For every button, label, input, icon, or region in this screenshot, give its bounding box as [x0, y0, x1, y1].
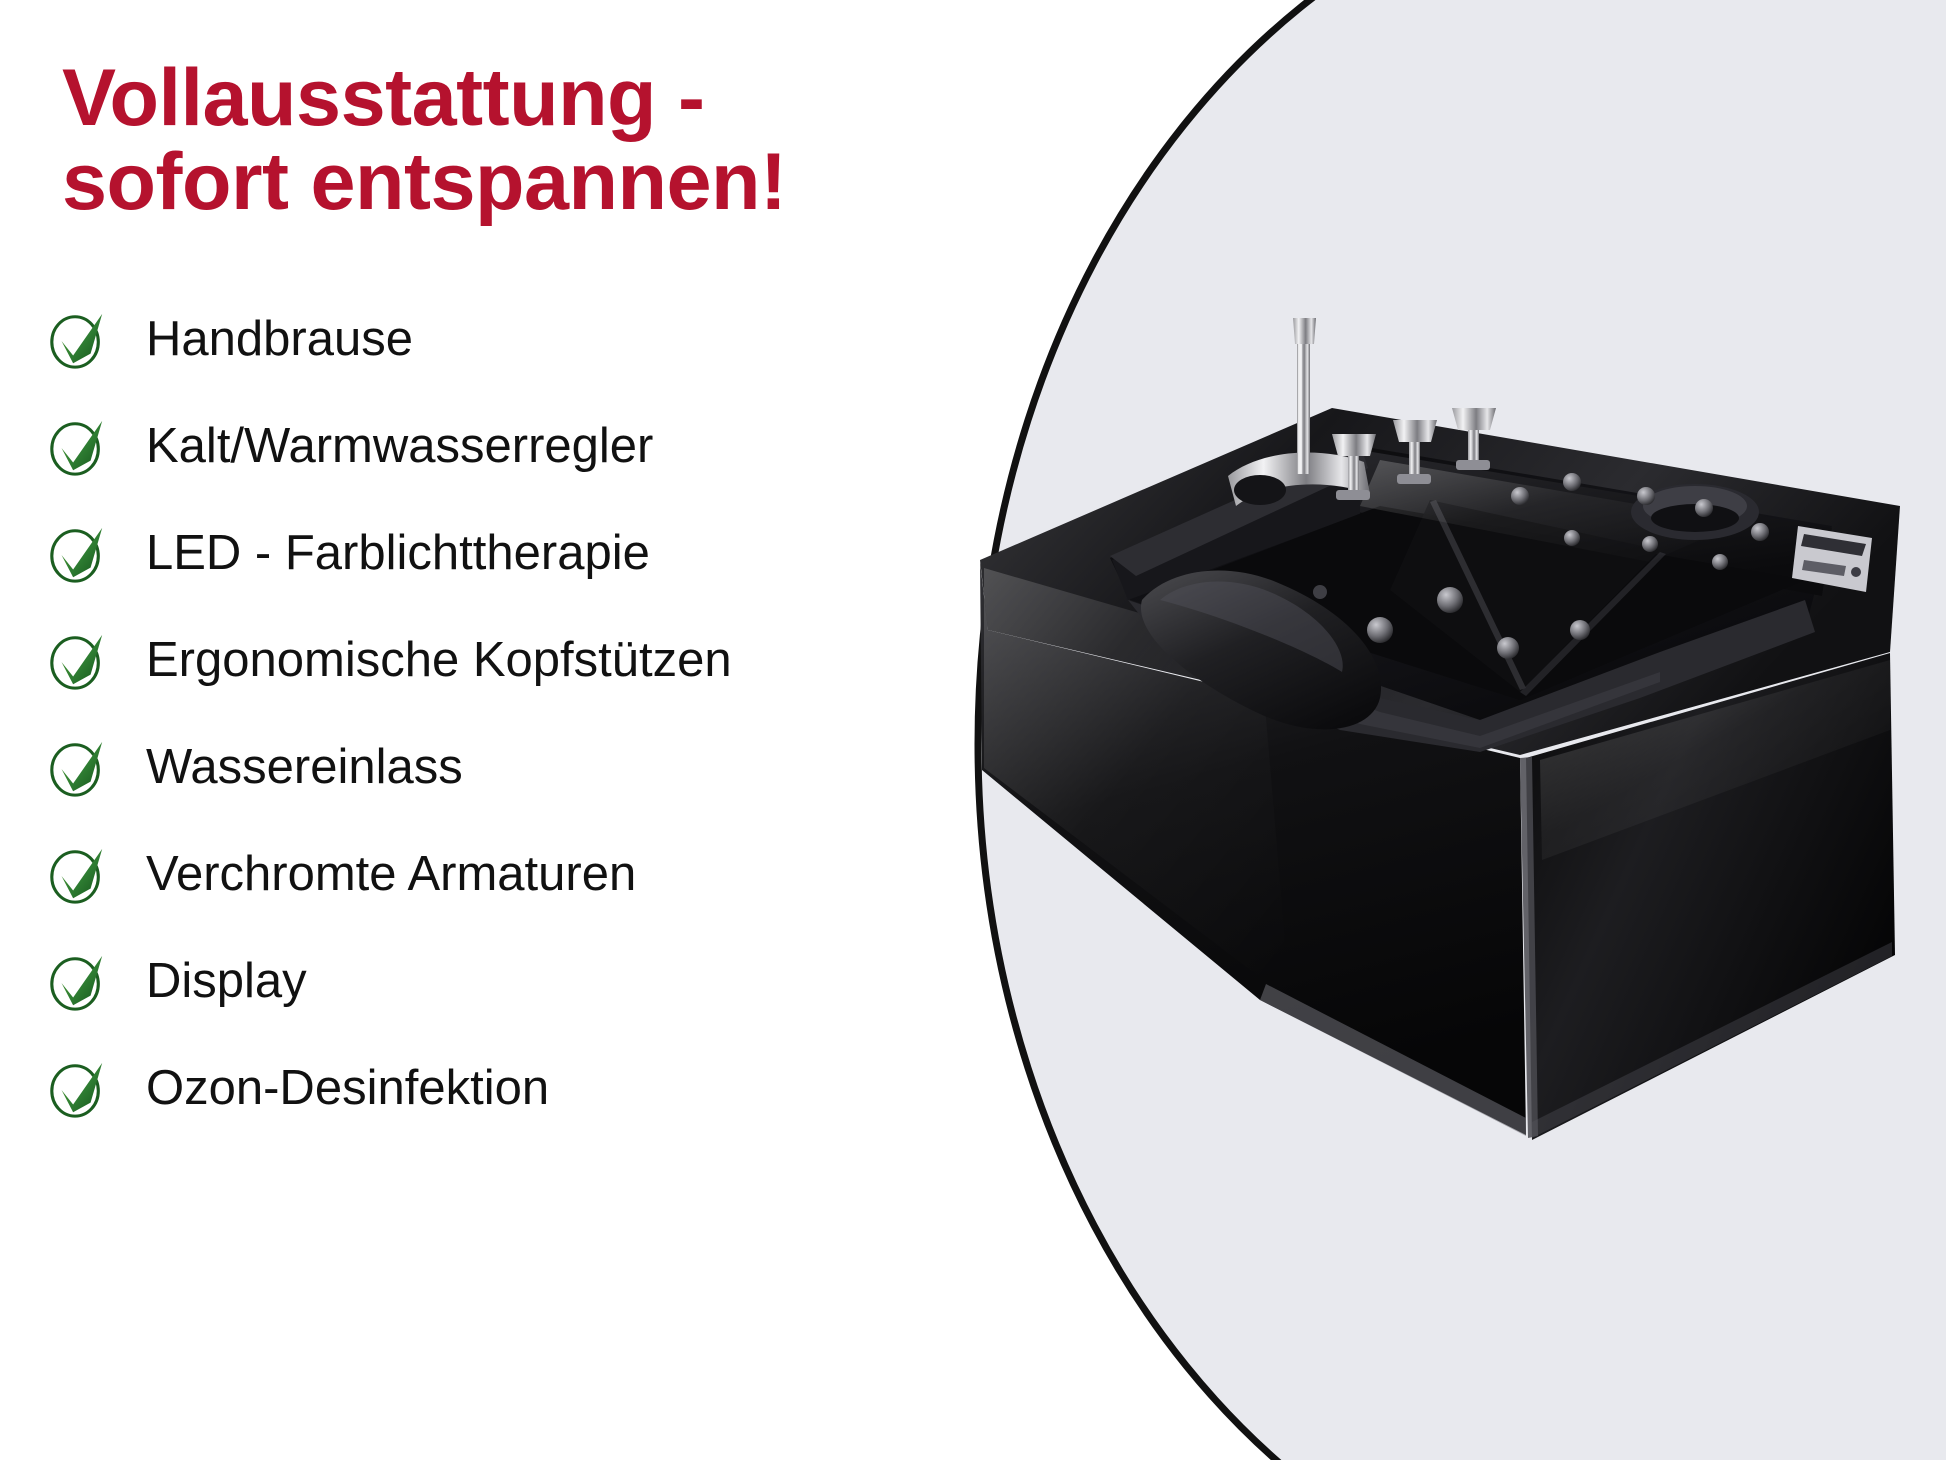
list-item-label: Handbrause: [146, 315, 413, 364]
list-item-label: Display: [146, 957, 307, 1006]
list-item-label: LED - Farblichttherapie: [146, 529, 650, 578]
marketing-slide: Vollausstattung - sofort entspannen!: [0, 0, 1946, 1460]
handheld-shower-icon: [1293, 318, 1316, 344]
list-item: Handbrause: [40, 286, 970, 393]
list-item-label: Kalt/Warmwasserregler: [146, 422, 653, 471]
list-item: LED - Farblichttherapie: [40, 500, 970, 607]
page-title: Vollausstattung - sofort entspannen!: [62, 56, 942, 224]
check-circle-icon: [46, 844, 108, 906]
list-item-label: Ozon-Desinfektion: [146, 1064, 549, 1113]
list-item-label: Verchromte Armaturen: [146, 850, 636, 899]
check-circle-icon: [46, 630, 108, 692]
list-item: Display: [40, 928, 970, 1035]
list-item-label: Ergonomische Kopfstützen: [146, 636, 732, 685]
feature-list: Handbrause Kalt/Warmwasserregler LED - F…: [40, 286, 970, 1142]
list-item-label: Wassereinlass: [146, 743, 463, 792]
list-item: Ergonomische Kopfstützen: [40, 607, 970, 714]
list-item: Kalt/Warmwasserregler: [40, 393, 970, 500]
black-whirlpool-bathtub-image: [960, 300, 1946, 1260]
check-circle-icon: [46, 523, 108, 585]
check-circle-icon: [46, 1058, 108, 1120]
check-circle-icon: [46, 951, 108, 1013]
check-circle-icon: [46, 416, 108, 478]
check-circle-icon: [46, 309, 108, 371]
list-item: Ozon-Desinfektion: [40, 1035, 970, 1142]
list-item: Wassereinlass: [40, 714, 970, 821]
check-circle-icon: [46, 737, 108, 799]
list-item: Verchromte Armaturen: [40, 821, 970, 928]
